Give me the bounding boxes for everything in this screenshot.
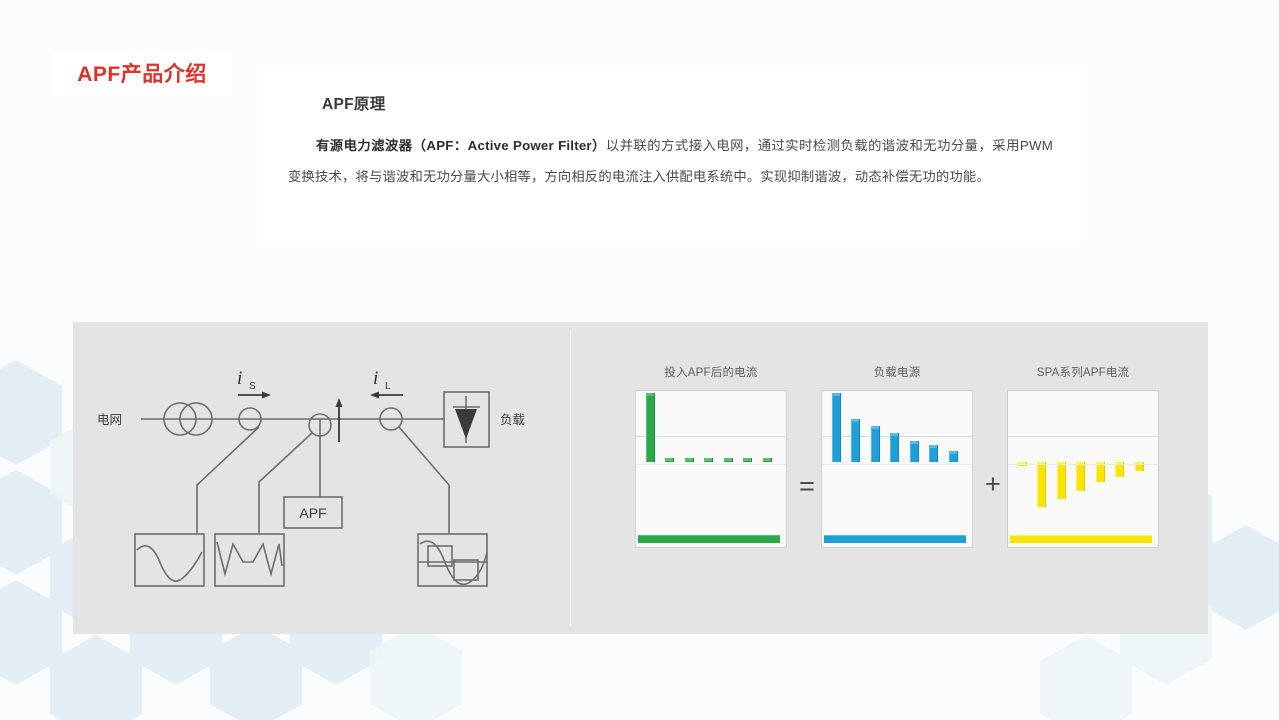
chart-zero-line [822,464,972,465]
chart-bar-cap [744,458,751,461]
chart-bar [724,458,733,462]
chart-apf-output-current: 投入APF后的电流 [635,364,787,548]
chart-bar-cap [725,458,732,461]
harmonic-charts-group: 投入APF后的电流 = 负载电源 + SPA系列APF电流 [613,364,1193,594]
principle-text-card: APF原理 有源电力滤波器（APF：Active Power Filter）以并… [258,70,1081,241]
chart-axis-floor [824,535,966,543]
circuit-il-symbol: i [373,368,378,389]
chart-zero-line [636,464,786,465]
chart-bar [1096,462,1105,482]
chart-bar-cap [705,458,712,461]
chart-bar-cap [686,458,693,461]
chart-bar-cap [891,433,898,436]
chart-load-supply: 负载电源 [821,364,973,548]
card-heading: APF原理 [322,92,1053,114]
chart-gridline [636,436,786,437]
chart-bar [646,393,655,462]
chart-bar [929,445,938,462]
chart-title-0: 投入APF后的电流 [635,364,787,380]
apf-circuit-diagram: 电网 负载 APF i S i L [73,322,573,634]
arrow-head-il-icon [370,392,379,399]
chart-bar-cap [666,458,673,461]
rectifier-triangle-icon [455,409,477,439]
chart-bar [832,393,841,462]
plus-operator: + [985,469,1001,500]
circuit-grid-label: 电网 [97,413,122,427]
chart-bar [949,451,958,462]
chart-zero-line [1008,464,1158,465]
arrow-head-is-icon [262,392,271,399]
chart-bar [685,458,694,462]
equals-operator: = [799,471,815,502]
chart-bar-cap [833,393,840,396]
chart-bar [1037,462,1046,507]
chart-bar-cap [911,441,918,444]
chart-axis-floor [1010,535,1152,543]
circuit-il-subscript: L [385,381,391,392]
chart-plot-area-2 [1007,390,1159,548]
circuit-is-symbol: i [237,368,242,389]
chart-axis-floor [638,535,780,543]
chart-bar-cap [852,419,859,422]
diagram-panel: 电网 负载 APF i S i L 投入APF后的电流 = 负载电源 + [73,322,1208,634]
section-title-tag: APF产品介绍 [52,50,232,96]
chart-bar [763,458,772,462]
chart-bar [871,426,880,462]
chart-title-2: SPA系列APF电流 [1007,364,1159,380]
chart-bar [910,441,919,462]
chart-bar [1057,462,1066,499]
circuit-apf-label: APF [299,505,326,521]
chart-bar [743,458,752,462]
chart-plot-area-1 [821,390,973,548]
chart-bar [1076,462,1085,491]
card-body-lead: 有源电力滤波器（APF：Active Power Filter） [316,138,606,153]
chart-title-1: 负载电源 [821,364,973,380]
section-title-label: APF产品介绍 [77,58,207,88]
chart-bar [665,458,674,462]
slide-root: APF产品介绍 APF原理 有源电力滤波器（APF：Active Power F… [0,0,1279,720]
card-body-paragraph: 有源电力滤波器（APF：Active Power Filter）以并联的方式接入… [288,130,1053,192]
chart-gridline [1008,436,1158,437]
chart-bar [704,458,713,462]
arrow-head-apf-icon [336,398,343,407]
chart-spa-apf-current: SPA系列APF电流 [1007,364,1159,548]
chart-bar [890,433,899,462]
chart-bar-cap [872,426,879,429]
chart-bar [851,419,860,462]
chart-bar-cap [950,451,957,454]
circuit-is-subscript: S [249,381,256,392]
chart-bar-cap [764,458,771,461]
chart-plot-area-0 [635,390,787,548]
chart-bar-cap [647,393,654,396]
circuit-load-label: 负载 [500,413,526,427]
chart-bar-cap [930,445,937,448]
